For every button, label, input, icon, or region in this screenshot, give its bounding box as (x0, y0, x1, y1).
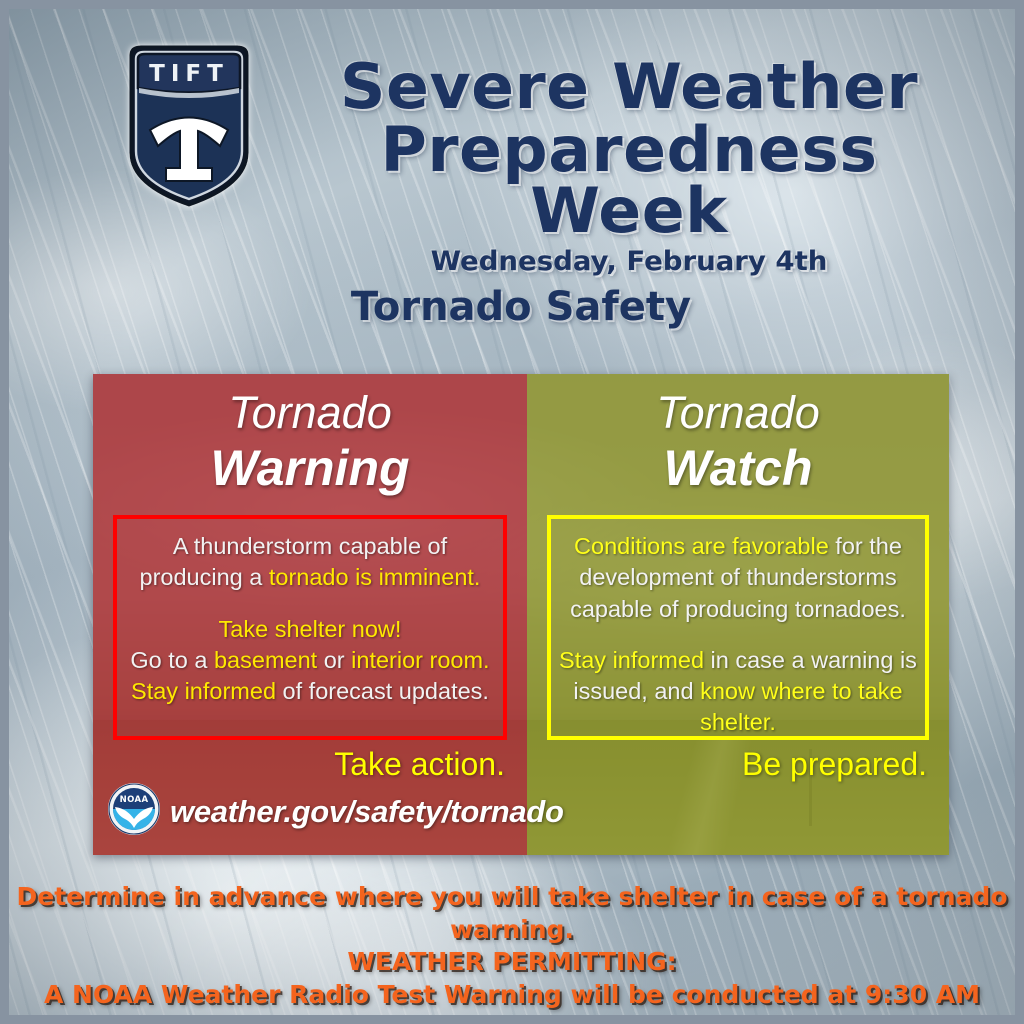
title-line-1: Severe Weather (272, 57, 986, 118)
poster-canvas: TIFT Severe Weather Preparedness Week We… (0, 0, 1024, 1024)
w2hl1: basement (214, 647, 317, 673)
warning-stay-informed-line: Stay informed of forecast updates. (125, 676, 495, 707)
watch-tagline: Be prepared. (742, 746, 927, 783)
warning-heading: Tornado Warning (93, 388, 527, 497)
watch-headline: Watch (527, 440, 949, 498)
poster-title: Severe Weather Preparedness Week Wednesd… (279, 57, 979, 276)
tornado-watch-panel: Tornado Watch Conditions are favorable f… (527, 374, 949, 855)
warning-headline: Warning (93, 440, 527, 498)
noaa-seal-icon: NOAA (107, 782, 161, 841)
spacer (125, 594, 495, 614)
w2hl2: interior room. (351, 647, 489, 673)
w2b: or (317, 647, 351, 673)
noaa-seal-text: NOAA (120, 795, 149, 805)
warning-tagline: Take action. (334, 746, 505, 783)
tornado-warning-panel: Tornado Warning A thunderstorm capable o… (93, 374, 527, 855)
watch-stay-informed: Stay informed (559, 647, 704, 673)
watch-heading: Tornado Watch (527, 388, 949, 497)
warning-text-box: A thunderstorm capable of producing a to… (113, 515, 507, 740)
footer-line-1: Determine in advance where you will take… (9, 881, 1015, 946)
w3hl: Stay informed (131, 678, 276, 704)
nws-tornado-graphic: Tornado Warning A thunderstorm capable o… (93, 374, 949, 855)
title-date: Wednesday, February 4th (272, 249, 986, 275)
title-line-2: Preparedness Week (272, 120, 986, 242)
noaa-credit-row: NOAA weather.gov/safety/tornado (107, 782, 564, 841)
page-subtitle: Tornado Safety (221, 284, 821, 330)
warning-shelter-location-line: Go to a basement or interior room. (125, 645, 495, 676)
watch-know-where: know where to take shelter. (700, 678, 903, 735)
watch-text-box: Conditions are favorable for the develop… (547, 515, 929, 740)
footer-line-3: A NOAA Weather Radio Test Warning will b… (9, 979, 1015, 1012)
warning-body-highlight: tornado is imminent. (269, 564, 481, 590)
tift-shield-logo: TIFT (117, 35, 261, 211)
warning-kicker: Tornado (93, 388, 527, 438)
spacer (559, 625, 917, 645)
footer-line-2: WEATHER PERMITTING: (9, 946, 1015, 979)
w3b: of forecast updates. (276, 678, 489, 704)
warning-take-shelter-line: Take shelter now! (125, 614, 495, 645)
footer-message: Determine in advance where you will take… (9, 881, 1015, 1011)
weather-gov-url[interactable]: weather.gov/safety/tornado (170, 794, 564, 830)
watch-body-highlight: Conditions are favorable (574, 533, 829, 559)
watch-kicker: Tornado (527, 388, 949, 438)
tift-banner-text: TIFT (149, 61, 229, 87)
w2a: Go to a (130, 647, 214, 673)
